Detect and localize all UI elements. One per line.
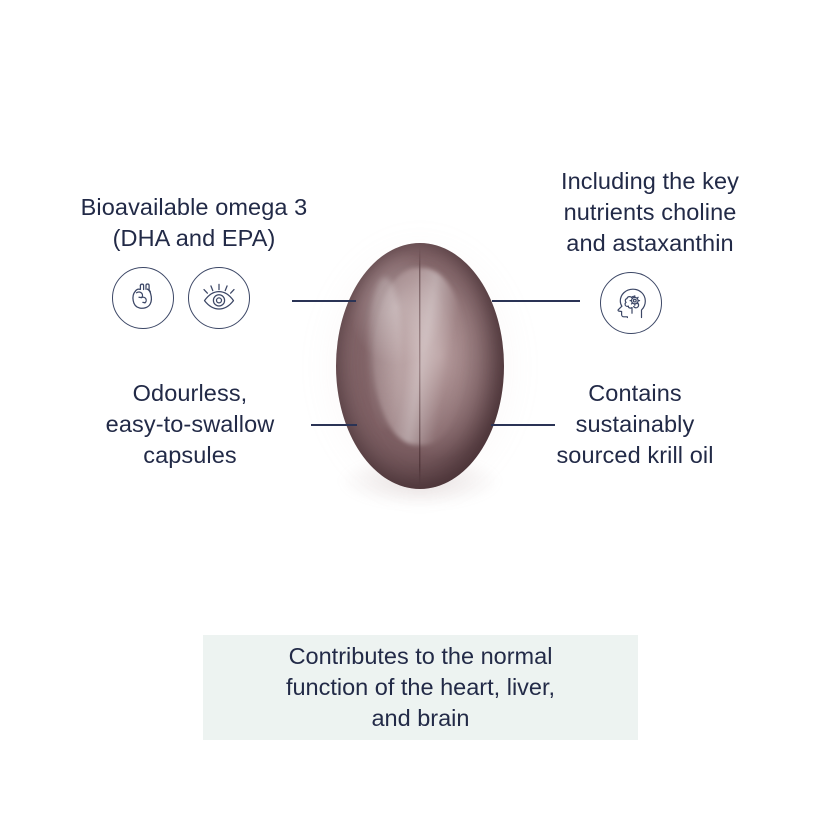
feature-top-left-text: Bioavailable omega 3 (DHA and EPA) <box>24 192 364 254</box>
connector-line-top-right <box>492 300 580 302</box>
feature-bottom-left-text: Odourless, easy-to-swallow capsules <box>20 378 360 471</box>
feature-top-left-icons <box>112 267 250 329</box>
connector-line-top-left <box>292 300 356 302</box>
capsule-edge-shading <box>336 243 504 489</box>
product-capsule-image <box>336 243 504 489</box>
feature-top-right-icons <box>600 272 662 334</box>
heart-icon <box>112 267 174 329</box>
feature-bottom-right-text: Contains sustainably sourced krill oil <box>490 378 780 471</box>
health-claim-banner: Contributes to the normal function of th… <box>203 635 638 740</box>
eye-icon <box>188 267 250 329</box>
infographic-stage: Bioavailable omega 3 (DHA and EPA) <box>0 0 840 840</box>
brain-head-icon <box>600 272 662 334</box>
feature-top-right-text: Including the key nutrients choline and … <box>480 166 820 259</box>
health-claim-text: Contributes to the normal function of th… <box>286 641 555 734</box>
capsule-body <box>336 243 504 489</box>
